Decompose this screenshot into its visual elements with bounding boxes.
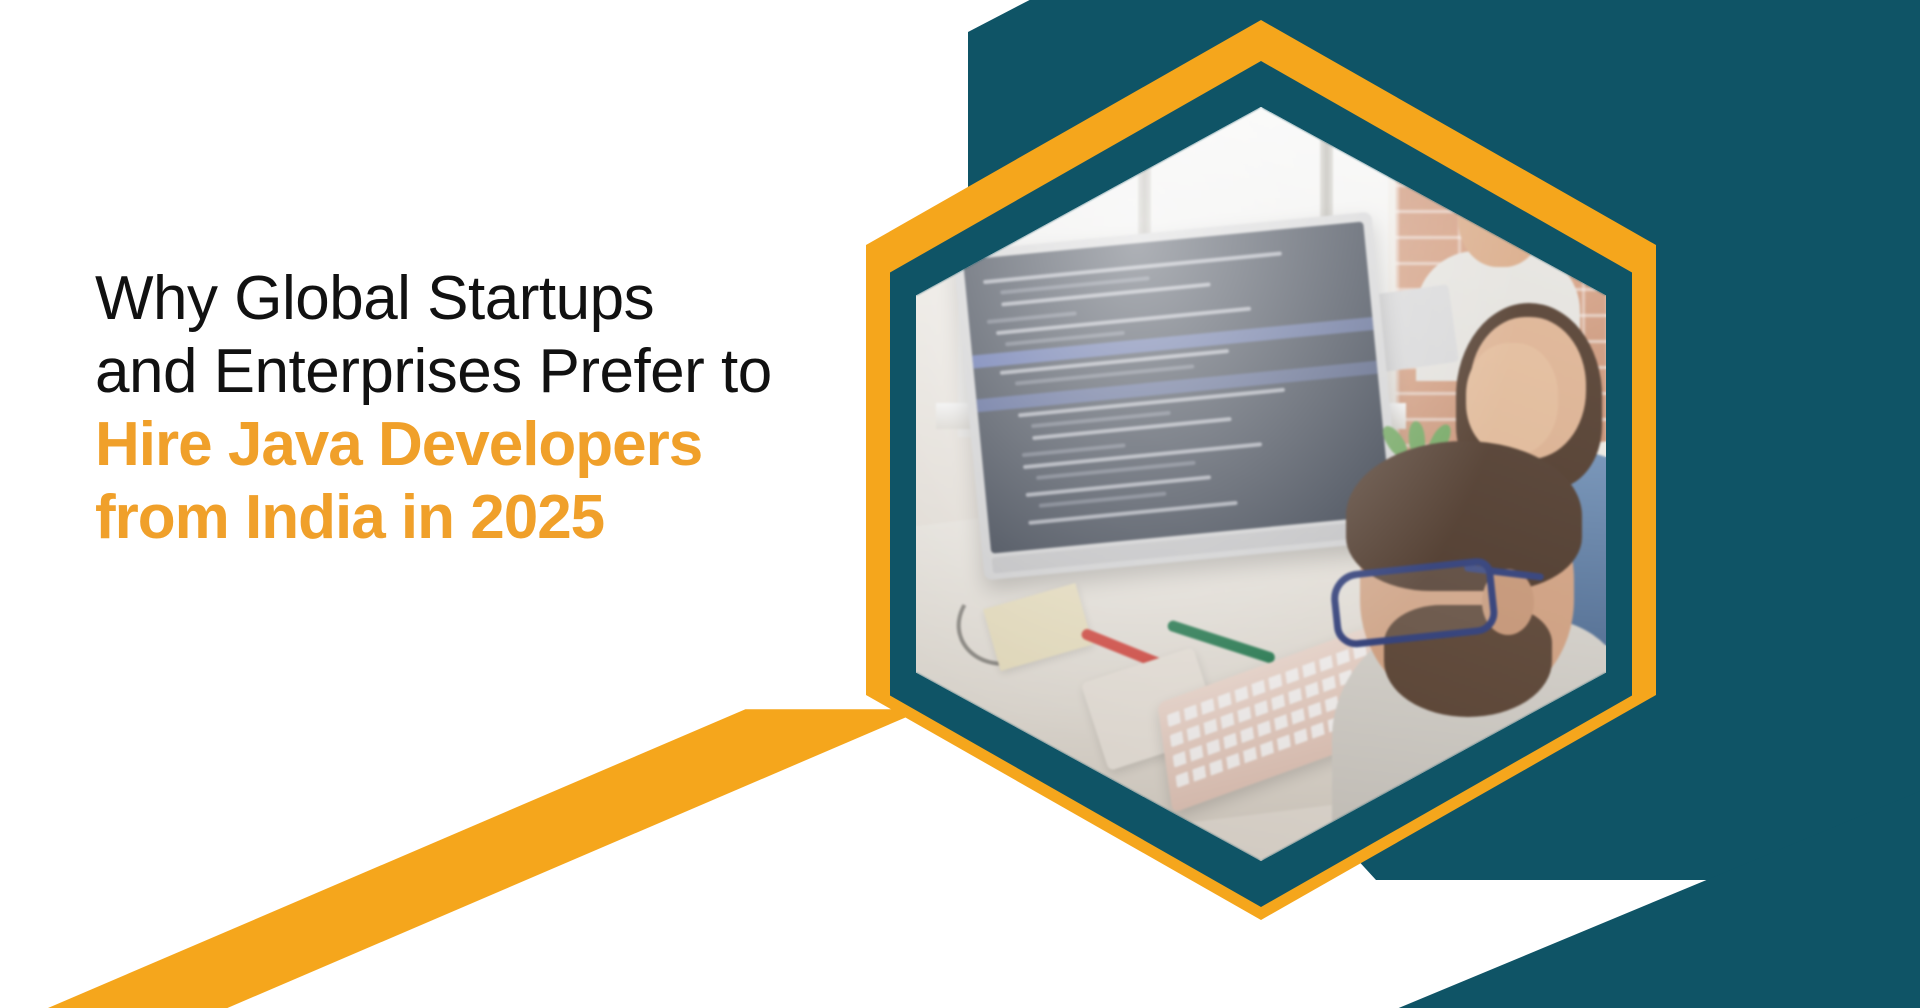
page-title: Why Global Startups and Enterprises Pref…: [95, 262, 895, 555]
blog-banner: Why Global Startups and Enterprises Pref…: [0, 0, 1920, 1008]
code-line: [1039, 492, 1167, 508]
hexagon-graphic: [830, 0, 1920, 1008]
headline-line-4: from India in 2025: [95, 481, 895, 554]
headline-line-2: and Enterprises Prefer to: [95, 335, 895, 408]
code-line: [987, 311, 1077, 324]
headline-line-3: Hire Java Developers: [95, 408, 895, 481]
code-line: [1026, 475, 1212, 497]
code-line: [1001, 282, 1210, 306]
headline-line-1: Why Global Startups: [95, 262, 895, 335]
code-line: [1022, 443, 1126, 457]
